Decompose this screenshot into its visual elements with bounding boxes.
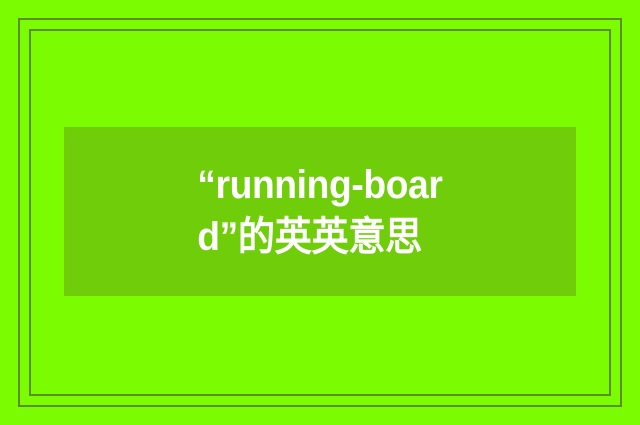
slide-canvas: “running-board”的英英意思 xyxy=(0,0,640,425)
content-panel: “running-board”的英英意思 xyxy=(64,127,576,296)
page-title: “running-board”的英英意思 xyxy=(197,160,443,262)
